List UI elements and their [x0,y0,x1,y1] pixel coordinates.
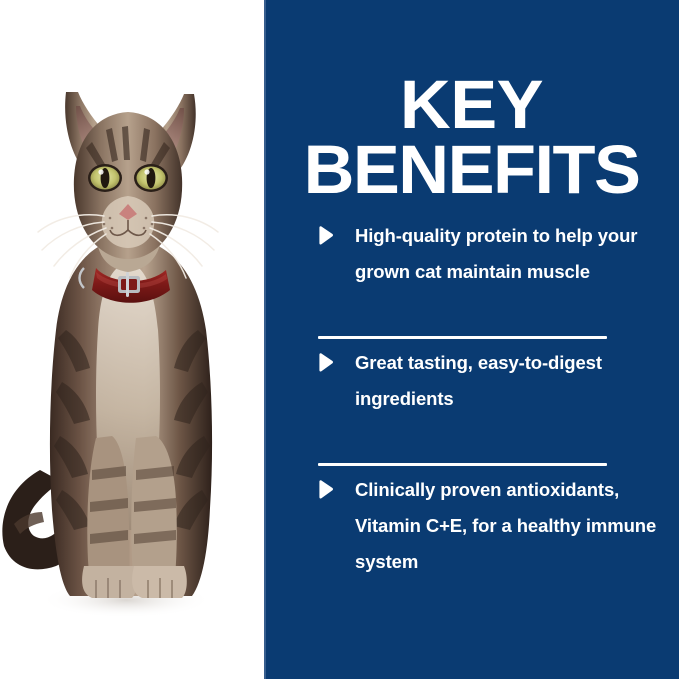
benefit-text: High-quality protein to help your grown … [355,218,657,290]
cat-photo-image [0,0,264,679]
play-triangle-icon [317,472,337,506]
list-item: Great tasting, easy-to-digest ingredient… [317,345,657,457]
benefit-text: Clinically proven antioxidants, Vitamin … [355,472,657,580]
list-item: High-quality protein to help your grown … [317,218,657,330]
page-title: KEY BENEFITS [264,73,679,203]
list-item: Clinically proven antioxidants, Vitamin … [317,472,657,584]
play-triangle-icon [317,345,337,379]
benefits-panel: KEY BENEFITS High-quality protein to hel… [264,0,679,679]
benefit-divider [318,336,607,339]
play-triangle-icon [317,218,337,252]
benefit-text: Great tasting, easy-to-digest ingredient… [355,345,657,417]
benefit-list: High-quality protein to help your grown … [317,218,657,584]
key-benefits-card: Adult brown tabby cat sitting upright on… [0,0,679,679]
headline-line-1: KEY [260,73,679,138]
headline-line-2: BENEFITS [260,138,679,203]
benefit-divider [318,463,607,466]
product-photo-panel: Adult brown tabby cat sitting upright on… [0,0,264,679]
